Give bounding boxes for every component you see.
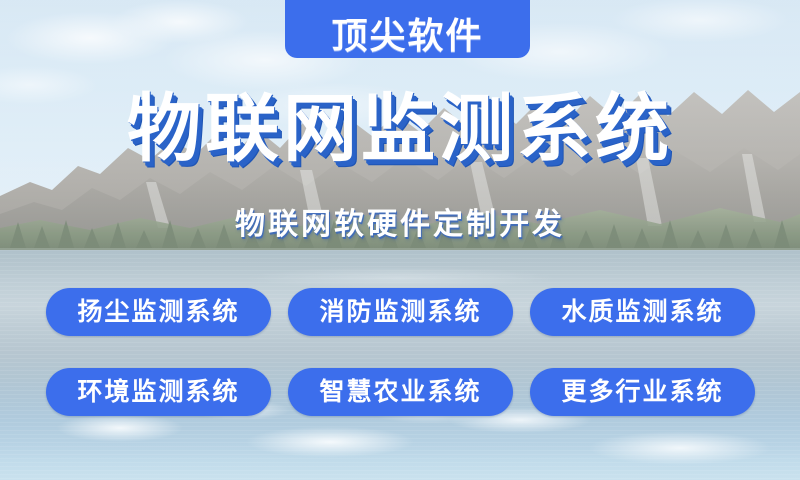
pill-dust-monitoring[interactable]: 扬尘监测系统 bbox=[46, 288, 271, 336]
pill-environment-monitoring[interactable]: 环境监测系统 bbox=[46, 368, 271, 416]
pill-label: 扬尘监测系统 bbox=[77, 300, 239, 325]
pill-label: 更多行业系统 bbox=[561, 380, 723, 405]
brand-badge[interactable]: 顶尖软件 bbox=[285, 0, 530, 58]
pill-label: 环境监测系统 bbox=[77, 380, 239, 405]
promo-banner: 顶尖软件 物联网监测系统 物联网软硬件定制开发 扬尘监测系统 消防监测系统 水质… bbox=[0, 0, 800, 480]
banner-content: 顶尖软件 物联网监测系统 物联网软硬件定制开发 扬尘监测系统 消防监测系统 水质… bbox=[0, 0, 800, 480]
pill-fire-monitoring[interactable]: 消防监测系统 bbox=[288, 288, 513, 336]
page-subtitle: 物联网软硬件定制开发 bbox=[0, 207, 800, 243]
pill-label: 消防监测系统 bbox=[319, 300, 481, 325]
pill-more-industry-systems[interactable]: 更多行业系统 bbox=[530, 368, 755, 416]
pill-water-quality-monitoring[interactable]: 水质监测系统 bbox=[530, 288, 755, 336]
brand-badge-label: 顶尖软件 bbox=[331, 18, 483, 54]
pill-smart-agriculture[interactable]: 智慧农业系统 bbox=[288, 368, 513, 416]
page-title: 物联网监测系统 bbox=[0, 92, 800, 166]
pill-label: 智慧农业系统 bbox=[319, 380, 481, 405]
pill-label: 水质监测系统 bbox=[561, 300, 723, 325]
service-pill-grid: 扬尘监测系统 消防监测系统 水质监测系统 环境监测系统 智慧农业系统 更多行业系… bbox=[46, 288, 754, 416]
